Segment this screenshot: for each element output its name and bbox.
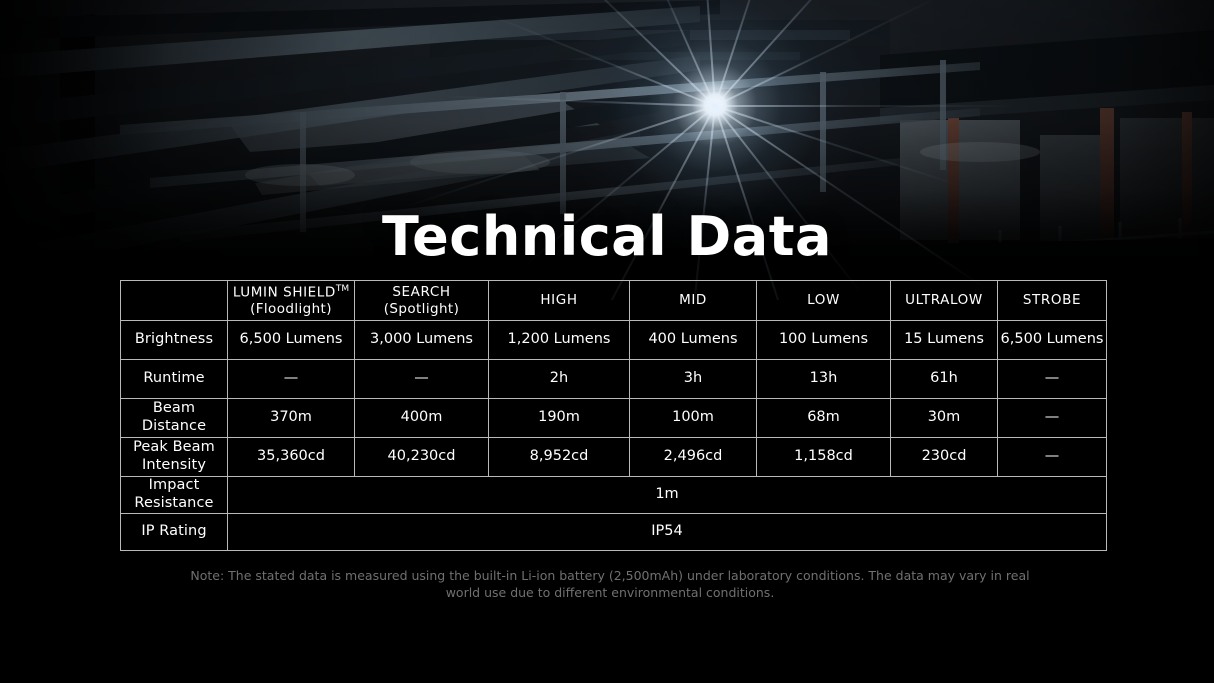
cell-brightness-ultralow: 15 Lumens bbox=[891, 321, 998, 360]
cell-runtime-ultralow: 61h bbox=[891, 360, 998, 399]
table-row-peak-beam-intensity: Peak Beam Intensity 35,360cd 40,230cd 8,… bbox=[121, 438, 1107, 477]
header-cell-mid: MID bbox=[630, 281, 757, 321]
cell-runtime-mid: 3h bbox=[630, 360, 757, 399]
row-label-impact-resistance: Impact Resistance bbox=[121, 477, 228, 514]
header-cell-strobe: STROBE bbox=[998, 281, 1107, 321]
row-label-line2: Resistance bbox=[134, 495, 213, 511]
cell-brightness-lumin-shield: 6,500 Lumens bbox=[228, 321, 355, 360]
header-label-search: SEARCH bbox=[392, 284, 450, 300]
row-label-peak-beam-intensity: Peak Beam Intensity bbox=[121, 438, 228, 477]
cell-brightness-mid: 400 Lumens bbox=[630, 321, 757, 360]
cell-brightness-low: 100 Lumens bbox=[757, 321, 891, 360]
cell-runtime-high: 2h bbox=[489, 360, 630, 399]
row-label-line2: Intensity bbox=[142, 457, 206, 473]
cell-brightness-high: 1,200 Lumens bbox=[489, 321, 630, 360]
footnote-text: Note: The stated data is measured using … bbox=[180, 568, 1040, 602]
row-label-runtime: Runtime bbox=[121, 360, 228, 399]
header-cell-high: HIGH bbox=[489, 281, 630, 321]
cell-runtime-strobe: — bbox=[998, 360, 1107, 399]
page-title: Technical Data bbox=[0, 205, 1214, 268]
cell-peak-intensity-search: 40,230cd bbox=[355, 438, 489, 477]
table-row-impact-resistance: Impact Resistance 1m bbox=[121, 477, 1107, 514]
header-sublabel-spotlight: (Spotlight) bbox=[357, 301, 486, 317]
cell-runtime-lumin-shield: — bbox=[228, 360, 355, 399]
cell-peak-intensity-mid: 2,496cd bbox=[630, 438, 757, 477]
row-label-beam-distance: Beam Distance bbox=[121, 399, 228, 438]
row-label-brightness: Brightness bbox=[121, 321, 228, 360]
cell-runtime-search: — bbox=[355, 360, 489, 399]
table-row-runtime: Runtime — — 2h 3h 13h 61h — bbox=[121, 360, 1107, 399]
cell-beam-distance-lumin-shield: 370m bbox=[228, 399, 355, 438]
header-cell-low: LOW bbox=[757, 281, 891, 321]
row-label-ip-rating: IP Rating bbox=[121, 514, 228, 551]
header-label-lumin-shield: LUMIN SHIELD bbox=[233, 284, 336, 300]
table-header-row: LUMIN SHIELDTM (Floodlight) SEARCH (Spot… bbox=[121, 281, 1107, 321]
cell-beam-distance-strobe: — bbox=[998, 399, 1107, 438]
header-cell-search: SEARCH (Spotlight) bbox=[355, 281, 489, 321]
cell-peak-intensity-low: 1,158cd bbox=[757, 438, 891, 477]
cell-beam-distance-ultralow: 30m bbox=[891, 399, 998, 438]
cell-beam-distance-low: 68m bbox=[757, 399, 891, 438]
header-cell-empty bbox=[121, 281, 228, 321]
header-cell-lumin-shield: LUMIN SHIELDTM (Floodlight) bbox=[228, 281, 355, 321]
cell-runtime-low: 13h bbox=[757, 360, 891, 399]
table-row-ip-rating: IP Rating IP54 bbox=[121, 514, 1107, 551]
cell-brightness-search: 3,000 Lumens bbox=[355, 321, 489, 360]
cell-peak-intensity-strobe: — bbox=[998, 438, 1107, 477]
row-label-line1: Peak Beam bbox=[133, 439, 215, 455]
technical-data-page: Technical Data LUMIN SHIELDTM (Floodligh… bbox=[0, 0, 1214, 683]
cell-impact-resistance-value: 1m bbox=[228, 477, 1107, 514]
table-row-beam-distance: Beam Distance 370m 400m 190m 100m 68m 30… bbox=[121, 399, 1107, 438]
cell-beam-distance-search: 400m bbox=[355, 399, 489, 438]
cell-peak-intensity-high: 8,952cd bbox=[489, 438, 630, 477]
cell-brightness-strobe: 6,500 Lumens bbox=[998, 321, 1107, 360]
cell-peak-intensity-ultralow: 230cd bbox=[891, 438, 998, 477]
trademark-icon: TM bbox=[336, 284, 349, 294]
row-label-line1: Impact bbox=[149, 477, 200, 493]
technical-data-table: LUMIN SHIELDTM (Floodlight) SEARCH (Spot… bbox=[120, 280, 1107, 551]
header-sublabel-floodlight: (Floodlight) bbox=[230, 301, 352, 317]
cell-peak-intensity-lumin-shield: 35,360cd bbox=[228, 438, 355, 477]
cell-beam-distance-high: 190m bbox=[489, 399, 630, 438]
cell-ip-rating-value: IP54 bbox=[228, 514, 1107, 551]
table-row-brightness: Brightness 6,500 Lumens 3,000 Lumens 1,2… bbox=[121, 321, 1107, 360]
cell-beam-distance-mid: 100m bbox=[630, 399, 757, 438]
header-cell-ultralow: ULTRALOW bbox=[891, 281, 998, 321]
